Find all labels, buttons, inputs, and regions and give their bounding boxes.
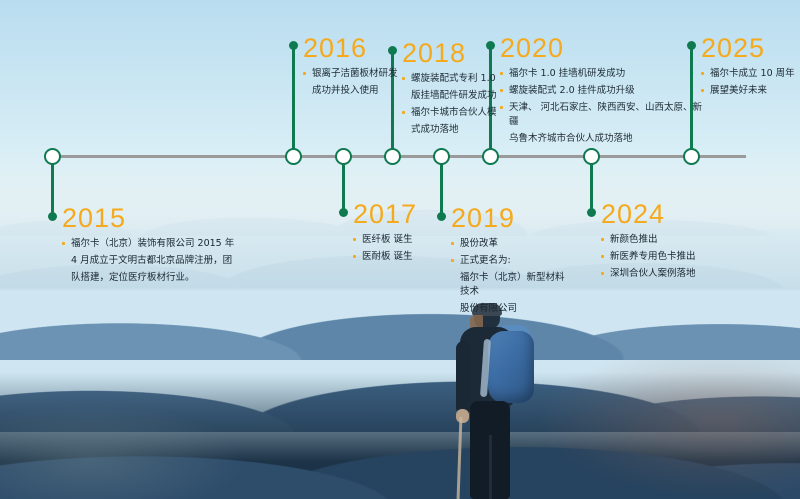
milestone-bullets-2024: 新颜色推出新医养专用色卡推出深圳合伙人案例落地 (601, 233, 721, 281)
milestone-bullet: 4 月成立于文明古都北京品牌注册，团 (62, 254, 237, 268)
milestone-block-2015: 2015福尔卡（北京）装饰有限公司 2015 年4 月成立于文明古都北京品牌注册… (62, 203, 237, 288)
timeline-node-2025[interactable] (683, 148, 700, 165)
valley-mist (0, 400, 300, 499)
milestone-bullet: 福尔卡（北京）装饰有限公司 2015 年 (62, 237, 237, 251)
milestone-bullet: 深圳合伙人案例落地 (601, 267, 721, 281)
timeline-node-2017[interactable] (335, 148, 352, 165)
timeline-node-2020[interactable] (482, 148, 499, 165)
milestone-year-2020: 2020 (500, 33, 710, 63)
milestone-bullet: 队搭建，定位医疗板材行业。 (62, 271, 237, 285)
timeline-infographic: 2015福尔卡（北京）装饰有限公司 2015 年4 月成立于文明古都北京品牌注册… (0, 0, 800, 499)
milestone-bullet: 展望美好未来 (701, 84, 800, 98)
timeline-node-2015[interactable] (44, 148, 61, 165)
milestone-bullet: 新医养专用色卡推出 (601, 250, 721, 264)
hiker-hand (456, 409, 469, 423)
milestone-year-2025: 2025 (701, 33, 800, 63)
timeline-stem-cap-2015 (48, 212, 57, 221)
milestone-year-2019: 2019 (451, 203, 571, 233)
timeline-node-2019[interactable] (433, 148, 450, 165)
trekking-pole (457, 417, 463, 499)
milestone-year-2015: 2015 (62, 203, 237, 233)
blue-backpack (488, 331, 534, 403)
milestone-bullet: 福尔卡 1.0 挂墙机研发成功 (500, 67, 710, 81)
milestone-bullet: 正式更名为: (451, 254, 571, 268)
milestone-bullet: 福尔卡成立 10 周年 (701, 67, 800, 81)
milestone-bullets-2020: 福尔卡 1.0 挂墙机研发成功螺旋装配式 2.0 挂件成功升级天津、 河北石家庄… (500, 67, 710, 146)
timeline-node-2018[interactable] (384, 148, 401, 165)
milestone-bullet: 福尔卡（北京）新型材料技术 (451, 271, 571, 299)
milestone-block-2020: 2020福尔卡 1.0 挂墙机研发成功螺旋装配式 2.0 挂件成功升级天津、 河… (500, 33, 710, 149)
timeline-node-2016[interactable] (285, 148, 302, 165)
milestone-bullet: 股份有限公司 (451, 302, 571, 316)
timeline-stem-2016 (292, 45, 295, 155)
milestone-bullet: 螺旋装配式 2.0 挂件成功升级 (500, 84, 710, 98)
timeline-stem-cap-2017 (339, 208, 348, 217)
milestone-year-2024: 2024 (601, 199, 721, 229)
milestone-bullets-2019: 股份改革正式更名为:福尔卡（北京）新型材料技术股份有限公司 (451, 237, 571, 316)
milestone-bullet: 乌鲁木齐城市合伙人成功落地 (500, 132, 710, 146)
timeline-node-2024[interactable] (583, 148, 600, 165)
milestone-bullets-2015: 福尔卡（北京）装饰有限公司 2015 年4 月成立于文明古都北京品牌注册，团队搭… (62, 237, 237, 285)
hiker-leg-split (489, 435, 492, 499)
hiker-arm (456, 341, 471, 415)
timeline-stem-cap-2016 (289, 41, 298, 50)
milestone-block-2025: 2025福尔卡成立 10 周年展望美好未来 (701, 33, 800, 101)
milestone-bullet: 新颜色推出 (601, 233, 721, 247)
timeline-stem-cap-2024 (587, 208, 596, 217)
milestone-block-2019: 2019股份改革正式更名为:福尔卡（北京）新型材料技术股份有限公司 (451, 203, 571, 319)
hiker-figure (430, 305, 550, 499)
milestone-bullets-2025: 福尔卡成立 10 周年展望美好未来 (701, 67, 800, 98)
milestone-bullet: 股份改革 (451, 237, 571, 251)
milestone-bullet: 天津、 河北石家庄、陕西西安、山西太原、新疆 (500, 101, 710, 129)
milestone-block-2024: 2024新颜色推出新医养专用色卡推出深圳合伙人案例落地 (601, 199, 721, 284)
